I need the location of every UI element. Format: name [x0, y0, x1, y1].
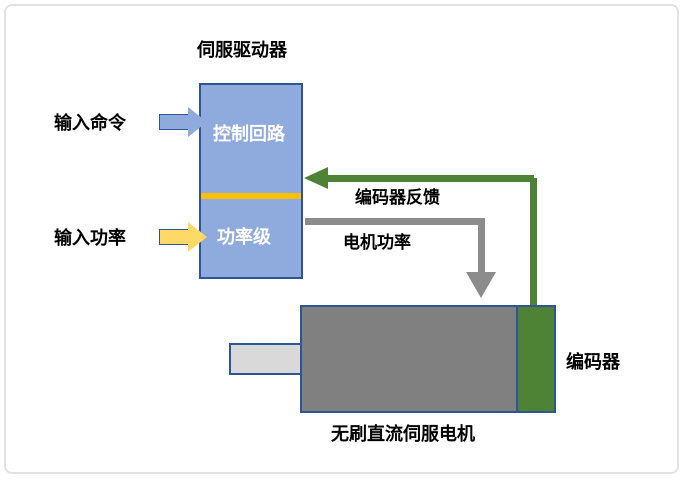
encoder-feedback-label: 编码器反馈: [355, 183, 440, 208]
motor-name-label: 无刷直流伺服电机: [331, 420, 475, 446]
input-power-label: 输入功率: [54, 224, 126, 250]
drive-divider-line: [201, 193, 301, 199]
diagram-canvas: 伺服驱动器 控制回路 功率级 输入命令 输入功率 编码器反馈 电机功率 无刷直流…: [0, 0, 687, 482]
motor-power-vertical-segment: [478, 218, 485, 274]
encoder-feedback-arrow-head: [304, 167, 328, 189]
control-circuit-label: 控制回路: [213, 120, 285, 146]
input-command-arrow-shaft: [159, 114, 189, 130]
input-command-arrow-head: [188, 107, 207, 137]
servo-drive-title: 伺服驱动器: [197, 36, 287, 62]
servo-drive-box: [199, 83, 303, 279]
input-power-arrow-shaft: [159, 229, 189, 245]
power-stage-label: 功率级: [217, 223, 271, 249]
input-power-arrow: [159, 222, 206, 252]
motor-power-label: 电机功率: [343, 228, 411, 253]
motor-shaft: [229, 343, 302, 375]
input-command-arrow: [159, 107, 206, 137]
encoder-feedback-vertical-segment: [530, 178, 537, 308]
input-power-arrow-head: [188, 222, 207, 252]
encoder-feedback-horizontal-segment: [327, 175, 534, 182]
motor-power-horizontal-segment: [305, 218, 485, 225]
motor-body: [300, 305, 522, 413]
motor-power-arrow-head: [466, 272, 496, 298]
encoder-label: 编码器: [566, 348, 620, 374]
encoder-box: [516, 305, 556, 413]
input-command-label: 输入命令: [54, 109, 126, 135]
